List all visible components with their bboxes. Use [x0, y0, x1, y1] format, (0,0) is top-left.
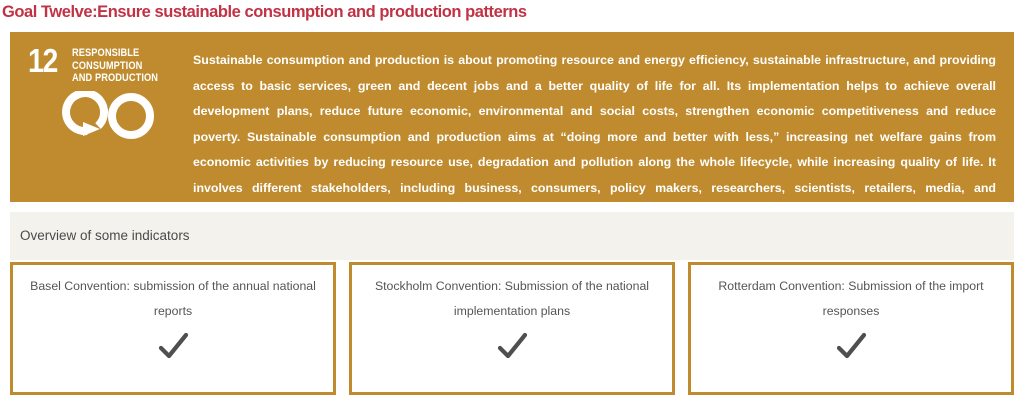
check-mark-icon: [366, 326, 658, 368]
sdg-goal-name-line-1: RESPONSIBLE: [72, 47, 158, 60]
sdg-goal-name-line-2: CONSUMPTION: [72, 60, 158, 73]
sdg-goal-name: RESPONSIBLE CONSUMPTION AND PRODUCTION: [72, 47, 158, 85]
indicator-card-title: Stockholm Convention: Submission of the …: [366, 274, 658, 324]
indicator-card-rotterdam[interactable]: Rotterdam Convention: Submission of the …: [688, 262, 1014, 395]
mobius-loop-icon: [54, 91, 188, 146]
indicator-card-basel[interactable]: Basel Convention: submission of the annu…: [10, 262, 336, 395]
indicator-cards-row: Basel Convention: submission of the annu…: [10, 262, 1014, 395]
indicator-card-stockholm[interactable]: Stockholm Convention: Submission of the …: [349, 262, 675, 395]
overview-heading: Overview of some indicators: [20, 228, 190, 243]
sdg-goal-badge: 12 RESPONSIBLE CONSUMPTION AND PRODUCTIO…: [10, 32, 188, 146]
check-mark-icon: [705, 326, 997, 368]
goal-description-banner: 12 RESPONSIBLE CONSUMPTION AND PRODUCTIO…: [10, 32, 1014, 202]
goal-twelve-page: Goal Twelve:Ensure sustainable consumpti…: [0, 0, 1024, 401]
check-mark-icon: [27, 326, 319, 368]
sdg-goal-number: 12: [28, 46, 57, 76]
sdg-badge-header: 12 RESPONSIBLE CONSUMPTION AND PRODUCTIO…: [28, 46, 188, 85]
page-title: Goal Twelve:Ensure sustainable consumpti…: [2, 1, 1002, 23]
goal-description-text: Sustainable consumption and production i…: [188, 32, 1014, 237]
indicator-card-title: Basel Convention: submission of the annu…: [27, 274, 319, 324]
sdg-goal-name-line-3: AND PRODUCTION: [72, 72, 158, 85]
overview-panel: Overview of some indicators: [10, 212, 1014, 260]
indicator-card-title: Rotterdam Convention: Submission of the …: [705, 274, 997, 324]
